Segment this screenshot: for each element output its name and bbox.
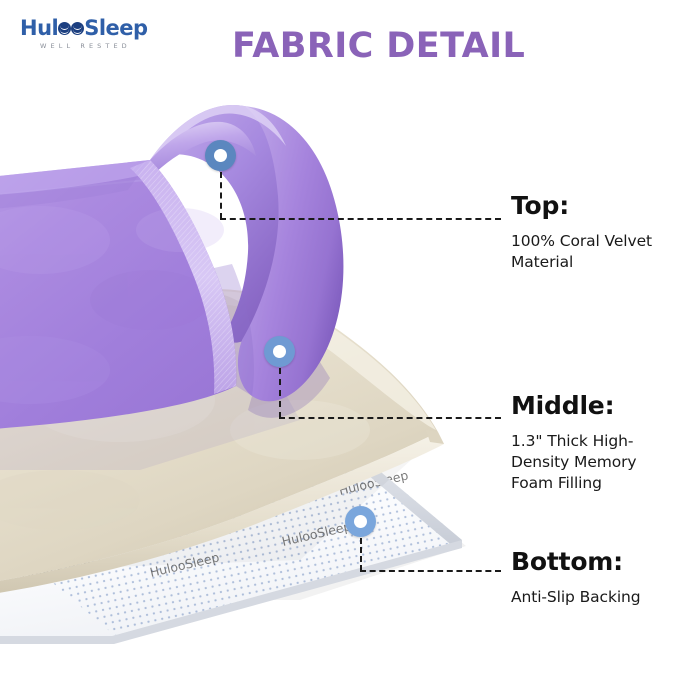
callout-bottom: Bottom: Anti-Slip Backing: [511, 548, 679, 608]
fabric-detail-infographic: HulSleep WELL RESTED FABRIC DETAIL: [0, 0, 679, 679]
callout-middle-body: 1.3" Thick High-Density Memory Foam Fill…: [511, 431, 679, 495]
callout-bottom-body: Anti-Slip Backing: [511, 587, 679, 608]
callout-marker-middle[interactable]: [264, 336, 295, 367]
marker-center: [354, 515, 367, 528]
callout-top-body: 100% Coral Velvet Material: [511, 231, 679, 274]
product-illustration: HulooSleep HulooSleep HulooSleep HulooSl…: [0, 0, 470, 679]
callout-middle: Middle: 1.3" Thick High-Density Memory F…: [511, 392, 679, 495]
callout-top: Top: 100% Coral Velvet Material: [511, 192, 679, 273]
callout-marker-top[interactable]: [205, 140, 236, 171]
coral-velvet-top-layer: [0, 105, 343, 470]
callout-marker-bottom[interactable]: [345, 506, 376, 537]
callout-bottom-title: Bottom:: [511, 548, 679, 576]
marker-center: [214, 149, 227, 162]
marker-center: [273, 345, 286, 358]
callout-middle-title: Middle:: [511, 392, 679, 420]
callout-top-title: Top:: [511, 192, 679, 220]
